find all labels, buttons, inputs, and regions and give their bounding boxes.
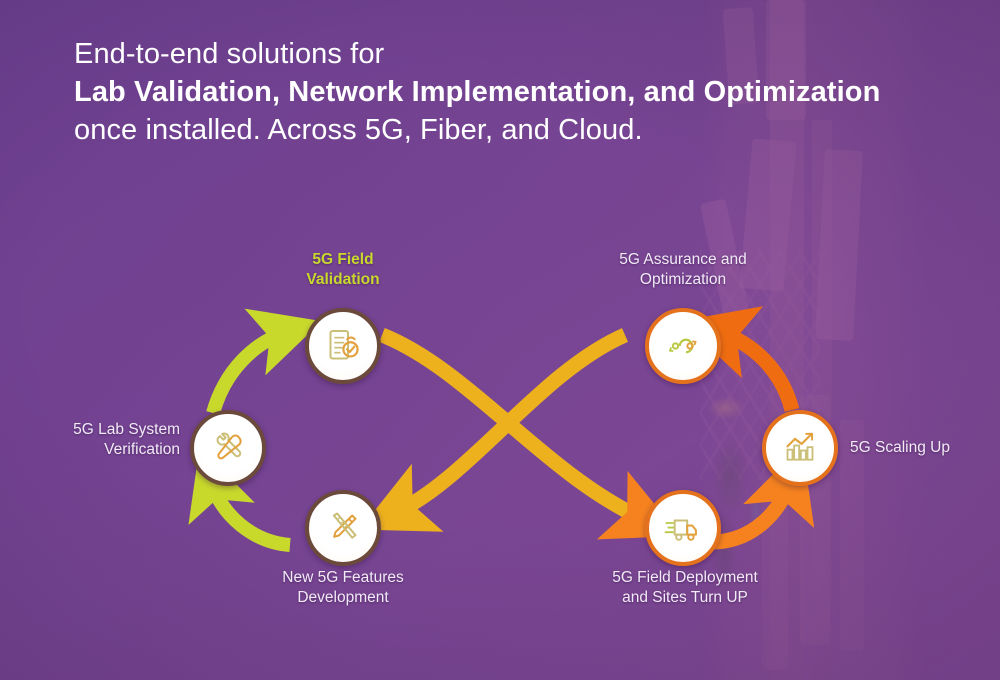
node-label-field-deployment: 5G Field Deployment and Sites Turn UP xyxy=(575,568,795,608)
flow-lab-to-validation xyxy=(213,332,287,413)
node-label-field-validation: 5G Field Validation xyxy=(243,250,443,290)
node-label-lab-system-verification: 5G Lab System Verification xyxy=(0,420,180,460)
node-field-validation[interactable] xyxy=(305,308,381,384)
document-check-icon xyxy=(323,326,363,366)
slide-canvas: End-to-end solutions for Lab Validation,… xyxy=(0,0,1000,680)
tools-icon xyxy=(208,428,248,468)
flow-scaling-to-assurance xyxy=(718,332,792,410)
heading-line-2: Lab Validation, Network Implementation, … xyxy=(74,72,974,112)
node-label-scaling-up: 5G Scaling Up xyxy=(850,438,1000,458)
heading-line-1: End-to-end solutions for xyxy=(74,36,974,72)
node-label-assurance-optimization: 5G Assurance and Optimization xyxy=(583,250,783,290)
node-field-deployment[interactable] xyxy=(645,490,721,566)
heading-line-3: once installed. Across 5G, Fiber, and Cl… xyxy=(74,112,974,148)
growth-chart-icon xyxy=(780,428,820,468)
node-new-features-development[interactable] xyxy=(305,490,381,566)
node-label-new-features-development: New 5G Features Development xyxy=(243,568,443,608)
delivery-truck-icon xyxy=(663,508,703,548)
devops-infinity-icon xyxy=(663,326,703,366)
pencil-ruler-icon xyxy=(323,508,363,548)
node-scaling-up[interactable] xyxy=(762,410,838,486)
flow-development-to-lab xyxy=(211,482,290,545)
node-assurance-optimization[interactable] xyxy=(645,308,721,384)
infinity-loop-diagram: 5G Field Validation 5G Lab System Verifi… xyxy=(0,220,1000,680)
flow-deployment-to-scaling xyxy=(712,482,790,542)
heading-block: End-to-end solutions for Lab Validation,… xyxy=(74,36,974,148)
node-lab-system-verification[interactable] xyxy=(190,410,266,486)
